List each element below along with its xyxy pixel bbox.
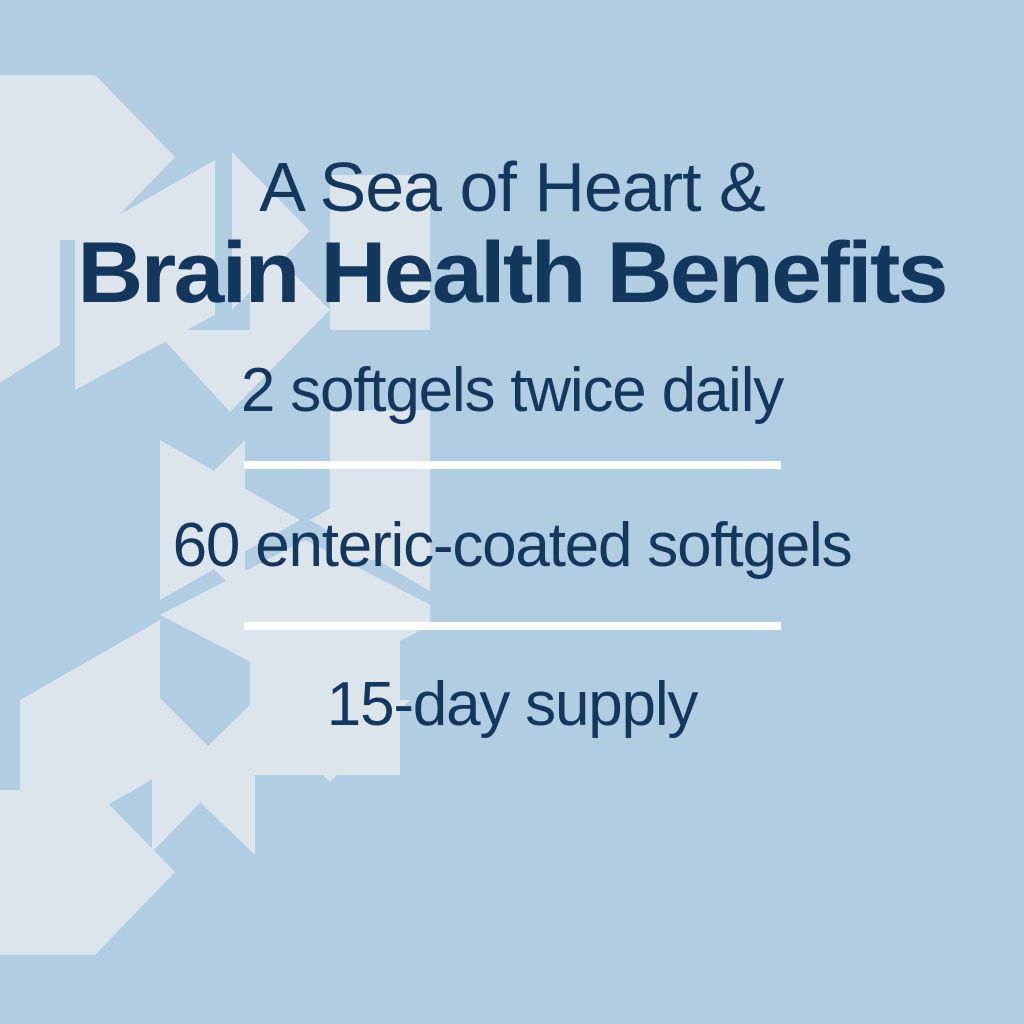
- product-benefits-card: A Sea of Heart & Brain Health Benefits 2…: [0, 0, 1024, 1024]
- headline-main-line: Brain Health Benefits: [78, 230, 947, 316]
- softgel-count-text: 60 enteric-coated softgels: [173, 515, 852, 577]
- supply-duration-text: 15-day supply: [327, 674, 697, 736]
- divider-rule-top: [244, 461, 781, 469]
- divider-rule-bottom: [244, 622, 781, 630]
- dosage-text: 2 softgels twice daily: [241, 360, 783, 422]
- headline-top-line: A Sea of Heart &: [259, 152, 764, 222]
- text-stack: A Sea of Heart & Brain Health Benefits 2…: [0, 0, 1024, 1024]
